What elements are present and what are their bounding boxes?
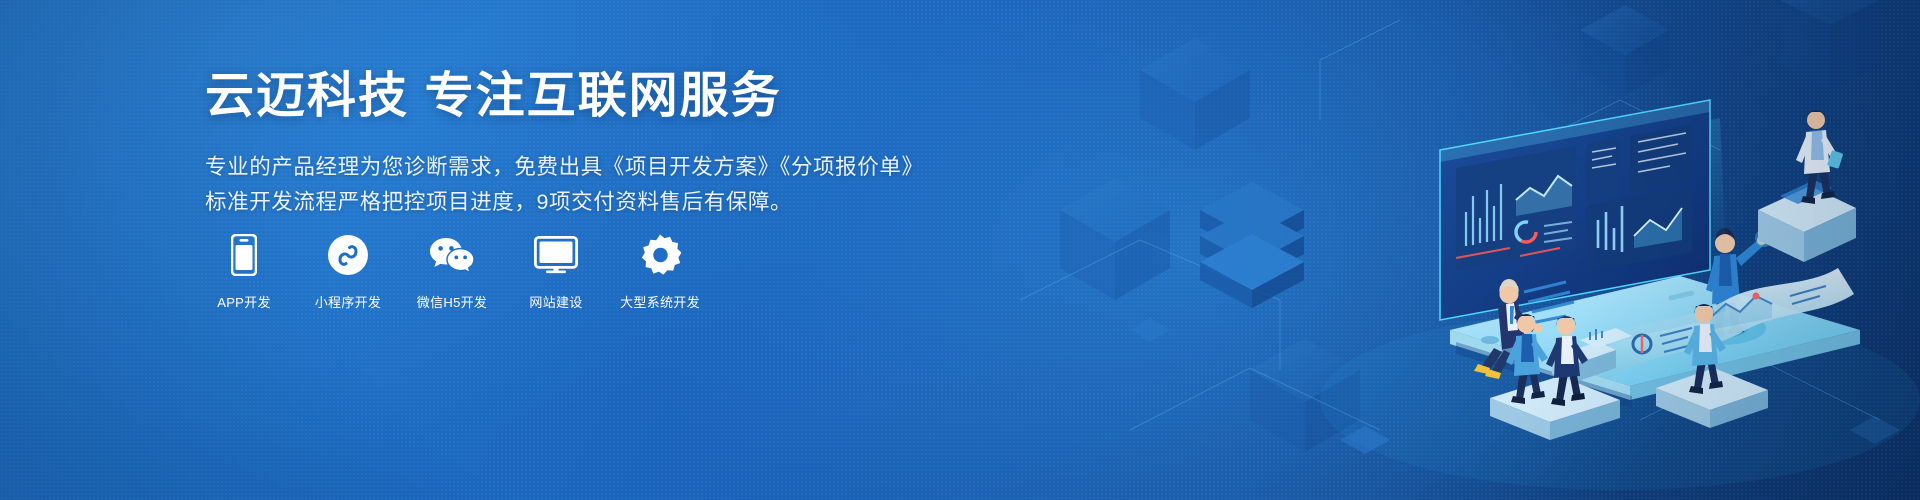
- service-item-website[interactable]: 网站建设: [517, 232, 595, 311]
- service-label: 小程序开发: [315, 292, 382, 311]
- service-label: 网站建设: [529, 292, 582, 311]
- service-item-large-system[interactable]: 大型系统开发: [621, 232, 699, 311]
- mobile-phone-icon: [231, 232, 257, 278]
- light-beams: [1710, 118, 1726, 262]
- service-icon-list: APP开发 小程序开发: [205, 232, 699, 311]
- service-label: APP开发: [217, 292, 271, 311]
- banner-copy: 云迈科技 专注互联网服务 专业的产品经理为您诊断需求，免费出具《项目开发方案》《…: [205, 68, 905, 220]
- illustration-isometric-tech-team: [1020, 0, 1920, 500]
- mini-program-icon: [327, 232, 369, 278]
- service-label: 微信H5开发: [417, 292, 487, 311]
- service-label: 大型系统开发: [620, 292, 700, 311]
- banner-subtitle: 专业的产品经理为您诊断需求，免费出具《项目开发方案》《分项报价单》 标准开发流程…: [205, 150, 905, 220]
- banner-subtitle-line-1: 专业的产品经理为您诊断需求，免费出具《项目开发方案》《分项报价单》: [205, 150, 905, 185]
- service-item-mini-program[interactable]: 小程序开发: [309, 232, 387, 311]
- monitor-icon: [534, 232, 578, 278]
- banner-headline: 云迈科技 专注互联网服务: [205, 68, 905, 124]
- service-item-app[interactable]: APP开发: [205, 232, 283, 311]
- person-on-box-platform: [1758, 110, 1856, 262]
- isometric-server-stack: [1200, 182, 1304, 308]
- service-item-wechat-h5[interactable]: 微信H5开发: [413, 232, 491, 311]
- banner-subtitle-line-2: 标准开发流程严格把控项目进度，9项交付资料售后有保障。: [205, 185, 905, 220]
- wechat-icon: [429, 232, 475, 278]
- gear-icon: [639, 232, 681, 278]
- hero-banner: 云迈科技 专注互联网服务 专业的产品经理为您诊断需求，免费出具《项目开发方案》《…: [0, 0, 1920, 500]
